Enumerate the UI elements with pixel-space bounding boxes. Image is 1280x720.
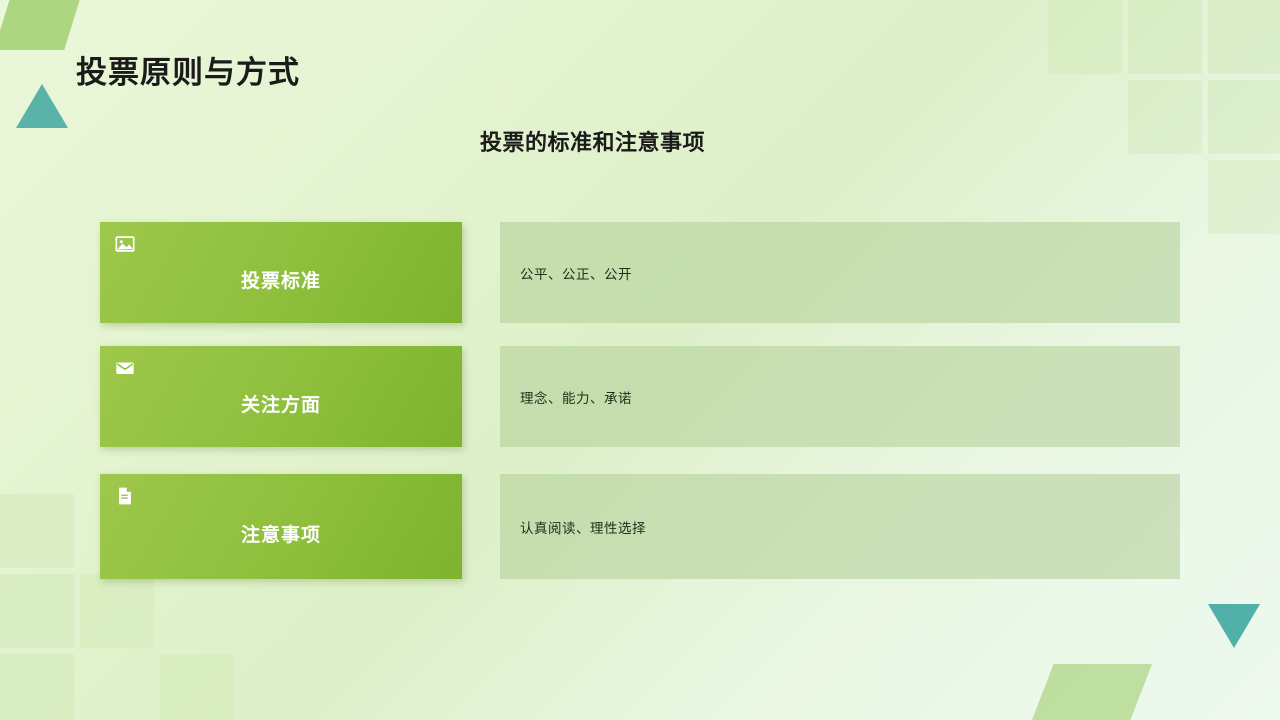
deco-hex-bottom-right xyxy=(1032,664,1152,720)
content-row: 关注方面 理念、能力、承诺 xyxy=(100,346,1180,447)
label-card-text: 关注方面 xyxy=(241,390,321,417)
label-card-text: 注意事项 xyxy=(241,520,321,547)
text-panel-2: 理念、能力、承诺 xyxy=(500,346,1180,447)
deco-square-tr-5 xyxy=(1208,80,1280,154)
label-card-text: 投票标准 xyxy=(241,266,321,293)
page-title: 投票原则与方式 xyxy=(76,47,300,92)
label-card-1[interactable]: 投票标准 xyxy=(100,222,462,323)
label-card-3[interactable]: 注意事项 xyxy=(100,474,462,579)
deco-square-tr-4 xyxy=(1128,80,1202,154)
deco-triangle-teal-right xyxy=(1208,604,1260,648)
mail-icon xyxy=(114,357,138,381)
content-row: 注意事项 认真阅读、理性选择 xyxy=(100,474,1180,575)
content-row: 投票标准 公平、公正、公开 xyxy=(100,222,1180,323)
text-panel-body: 认真阅读、理性选择 xyxy=(500,517,646,537)
deco-square-bl-5 xyxy=(160,654,234,720)
slide-canvas: 投票原则与方式 投票的标准和注意事项 投票标准 公平、公正、公开 xyxy=(0,0,1280,720)
deco-square-bl-2 xyxy=(0,574,74,648)
label-card-2[interactable]: 关注方面 xyxy=(100,346,462,447)
text-panel-3: 认真阅读、理性选择 xyxy=(500,474,1180,579)
deco-square-tr-3 xyxy=(1208,0,1280,74)
deco-square-bl-4 xyxy=(0,654,74,720)
deco-square-bl-3 xyxy=(80,574,154,648)
document-icon xyxy=(114,485,138,509)
text-panel-body: 理念、能力、承诺 xyxy=(500,387,632,407)
deco-hex-top-left xyxy=(0,0,84,50)
image-icon xyxy=(114,233,138,257)
deco-square-tr-1 xyxy=(1048,0,1122,74)
deco-triangle-teal-left xyxy=(16,84,68,128)
page-subtitle: 投票的标准和注意事项 xyxy=(480,125,705,157)
deco-square-bl-1 xyxy=(0,494,74,568)
text-panel-body: 公平、公正、公开 xyxy=(500,263,632,283)
deco-square-tr-2 xyxy=(1128,0,1202,74)
text-panel-1: 公平、公正、公开 xyxy=(500,222,1180,323)
deco-square-tr-6 xyxy=(1208,160,1280,234)
